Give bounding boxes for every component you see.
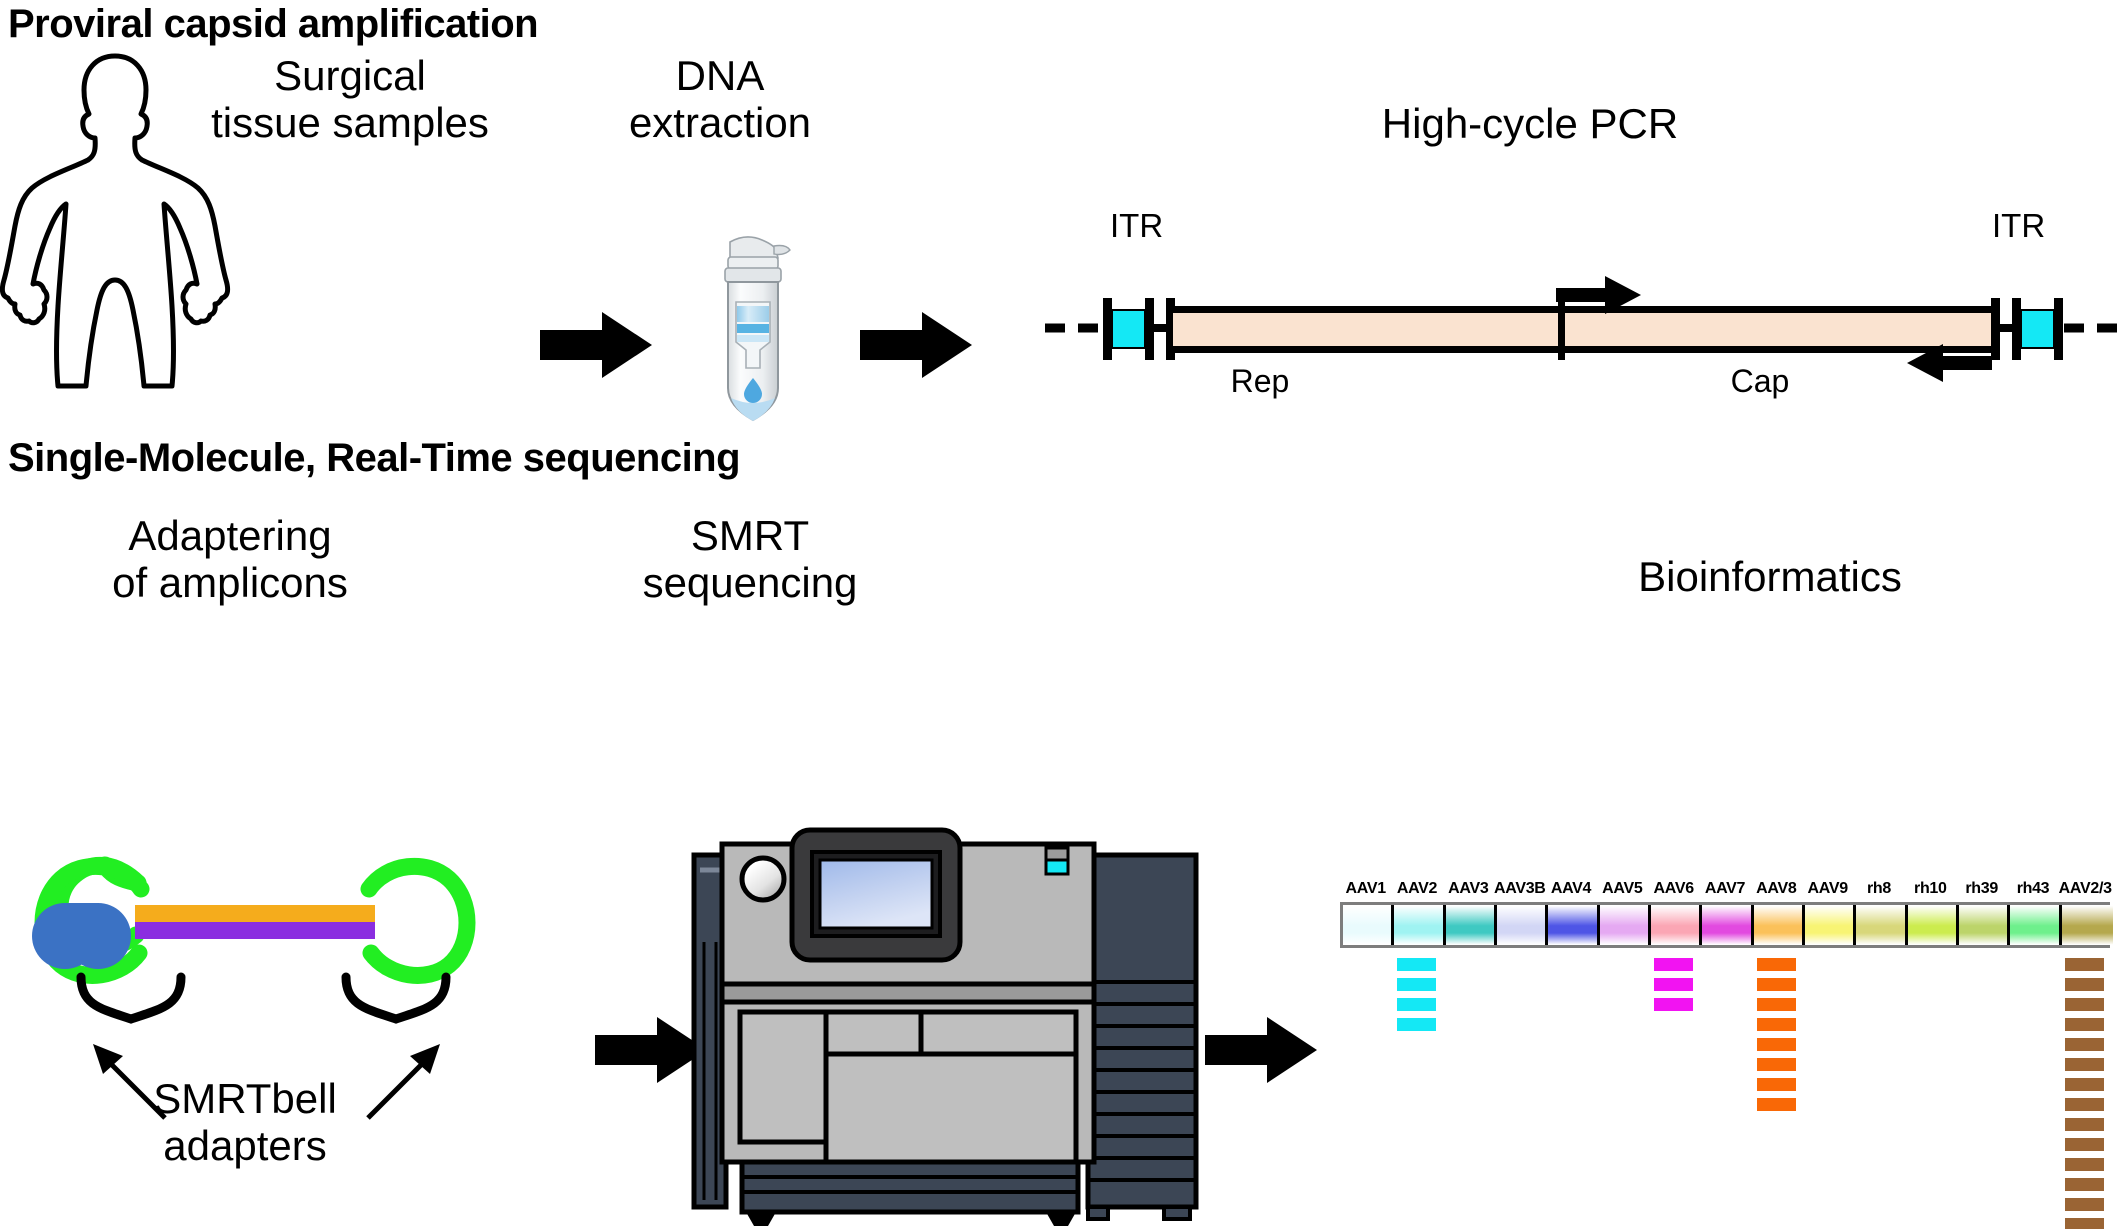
serotype-cell-AAV4[interactable]	[1548, 905, 1599, 945]
spin-column-tube-icon	[700, 230, 810, 430]
serotype-cell-AAV7[interactable]	[1702, 905, 1753, 945]
flow-arrow-4-icon	[1205, 1015, 1320, 1085]
read-bar	[1757, 1058, 1796, 1071]
step-label-smrt: SMRT sequencing	[550, 512, 950, 606]
serotype-cell-rh8[interactable]	[1856, 905, 1907, 945]
read-bar	[2065, 978, 2104, 991]
serotype-label-AAV6: AAV6	[1648, 880, 1699, 898]
read-stacks	[1340, 958, 2110, 1229]
serotype-alignment-icon: AAV1AAV2AAV3AAV3BAAV4AAV5AAV6AAV7AAV8AAV…	[1340, 880, 2110, 1229]
smrtbell-brace-left-icon	[75, 975, 195, 1035]
flow-arrow-1-icon	[540, 310, 655, 380]
serotype-label-rh43: rh43	[2007, 880, 2058, 898]
smrtbell-brace-right-icon	[340, 975, 460, 1035]
serotype-cell-AAV8[interactable]	[1754, 905, 1805, 945]
serotype-cell-AAV1[interactable]	[1343, 905, 1394, 945]
serotype-cell-AAV3[interactable]	[1446, 905, 1497, 945]
serotype-cell-AAV2-3[interactable]	[2062, 905, 2113, 945]
read-stack-AAV8	[1757, 958, 1796, 1118]
read-stack-AAV6	[1654, 958, 1693, 1018]
serotype-label-AAV8: AAV8	[1751, 880, 1802, 898]
read-bar	[1757, 978, 1796, 991]
step-label-extraction: DNA extraction	[560, 52, 880, 146]
read-bar	[1757, 998, 1796, 1011]
serotype-label-AAV3B: AAV3B	[1494, 880, 1545, 898]
read-bar	[1397, 998, 1436, 1011]
smrtbell-caption: SMRTbell adapters	[35, 1075, 455, 1169]
serotype-label-AAV7: AAV7	[1699, 880, 1750, 898]
flow-arrow-2-icon	[860, 310, 975, 380]
serotype-cell-AAV9[interactable]	[1805, 905, 1856, 945]
read-bar	[2065, 1058, 2104, 1071]
serotype-label-AAV5: AAV5	[1597, 880, 1648, 898]
serotype-label-rh8: rh8	[1853, 880, 1904, 898]
rep-gene-label: Rep	[1080, 363, 1440, 400]
read-bar	[1654, 978, 1693, 991]
read-bar	[2065, 998, 2104, 1011]
itr-left-label: ITR	[1110, 207, 1163, 245]
figure-canvas: Proviral capsid amplification Surgical t…	[0, 0, 2117, 1229]
read-bar	[2065, 1018, 2104, 1031]
serotype-cell-AAV3B[interactable]	[1497, 905, 1548, 945]
read-bar	[2065, 1198, 2104, 1211]
serotype-cell-rh39[interactable]	[1959, 905, 2010, 945]
serotype-cell-AAV5[interactable]	[1600, 905, 1651, 945]
step-label-adaptering: Adaptering of amplicons	[10, 512, 450, 606]
read-bar	[1757, 1078, 1796, 1091]
serotype-cell-rh43[interactable]	[2010, 905, 2061, 945]
read-bar	[2065, 1078, 2104, 1091]
cap-gene-label: Cap	[1580, 363, 1940, 400]
read-bar	[1654, 998, 1693, 1011]
serotype-label-AAV3: AAV3	[1443, 880, 1494, 898]
read-bar	[1397, 1018, 1436, 1031]
read-bar	[2065, 1098, 2104, 1111]
read-stack-AAV2-3	[2065, 958, 2104, 1229]
serotype-cell-AAV2[interactable]	[1394, 905, 1445, 945]
serotype-cell-rh10[interactable]	[1908, 905, 1959, 945]
read-bar	[2065, 958, 2104, 971]
serotype-label-AAV9: AAV9	[1802, 880, 1853, 898]
serotype-label-AAV4: AAV4	[1545, 880, 1596, 898]
serotype-label-AAV2-3: AAV2/3	[2059, 880, 2110, 898]
section-title-smrt: Single-Molecule, Real-Time sequencing	[8, 436, 740, 481]
serotype-label-AAV1: AAV1	[1340, 880, 1391, 898]
read-stack-AAV2	[1397, 958, 1436, 1038]
read-bar	[2065, 1138, 2104, 1151]
read-bar	[2065, 1218, 2104, 1229]
read-bar	[1654, 958, 1693, 971]
read-bar	[1397, 958, 1436, 971]
read-bar	[2065, 1118, 2104, 1131]
section-title-proviral: Proviral capsid amplification	[8, 2, 538, 47]
read-bar	[1757, 958, 1796, 971]
smrtbell-template-icon	[5, 845, 505, 965]
serotype-reference-bar	[1340, 902, 2110, 948]
itr-right-label: ITR	[1992, 207, 2045, 245]
human-body-icon	[0, 48, 230, 388]
serotype-cell-AAV6[interactable]	[1651, 905, 1702, 945]
read-bar	[1757, 1098, 1796, 1111]
serotype-label-row: AAV1AAV2AAV3AAV3BAAV4AAV5AAV6AAV7AAV8AAV…	[1340, 880, 2110, 902]
serotype-label-rh39: rh39	[1956, 880, 2007, 898]
read-bar	[1757, 1018, 1796, 1031]
sequencer-instrument-icon	[690, 822, 1200, 1227]
read-bar	[2065, 1038, 2104, 1051]
step-label-pcr: High-cycle PCR	[1230, 100, 1830, 147]
read-bar	[2065, 1178, 2104, 1191]
read-bar	[1397, 978, 1436, 991]
serotype-label-rh10: rh10	[1905, 880, 1956, 898]
read-bar	[1757, 1038, 1796, 1051]
step-label-bioinformatics: Bioinformatics	[1510, 553, 2030, 600]
serotype-label-AAV2: AAV2	[1391, 880, 1442, 898]
read-bar	[2065, 1158, 2104, 1171]
